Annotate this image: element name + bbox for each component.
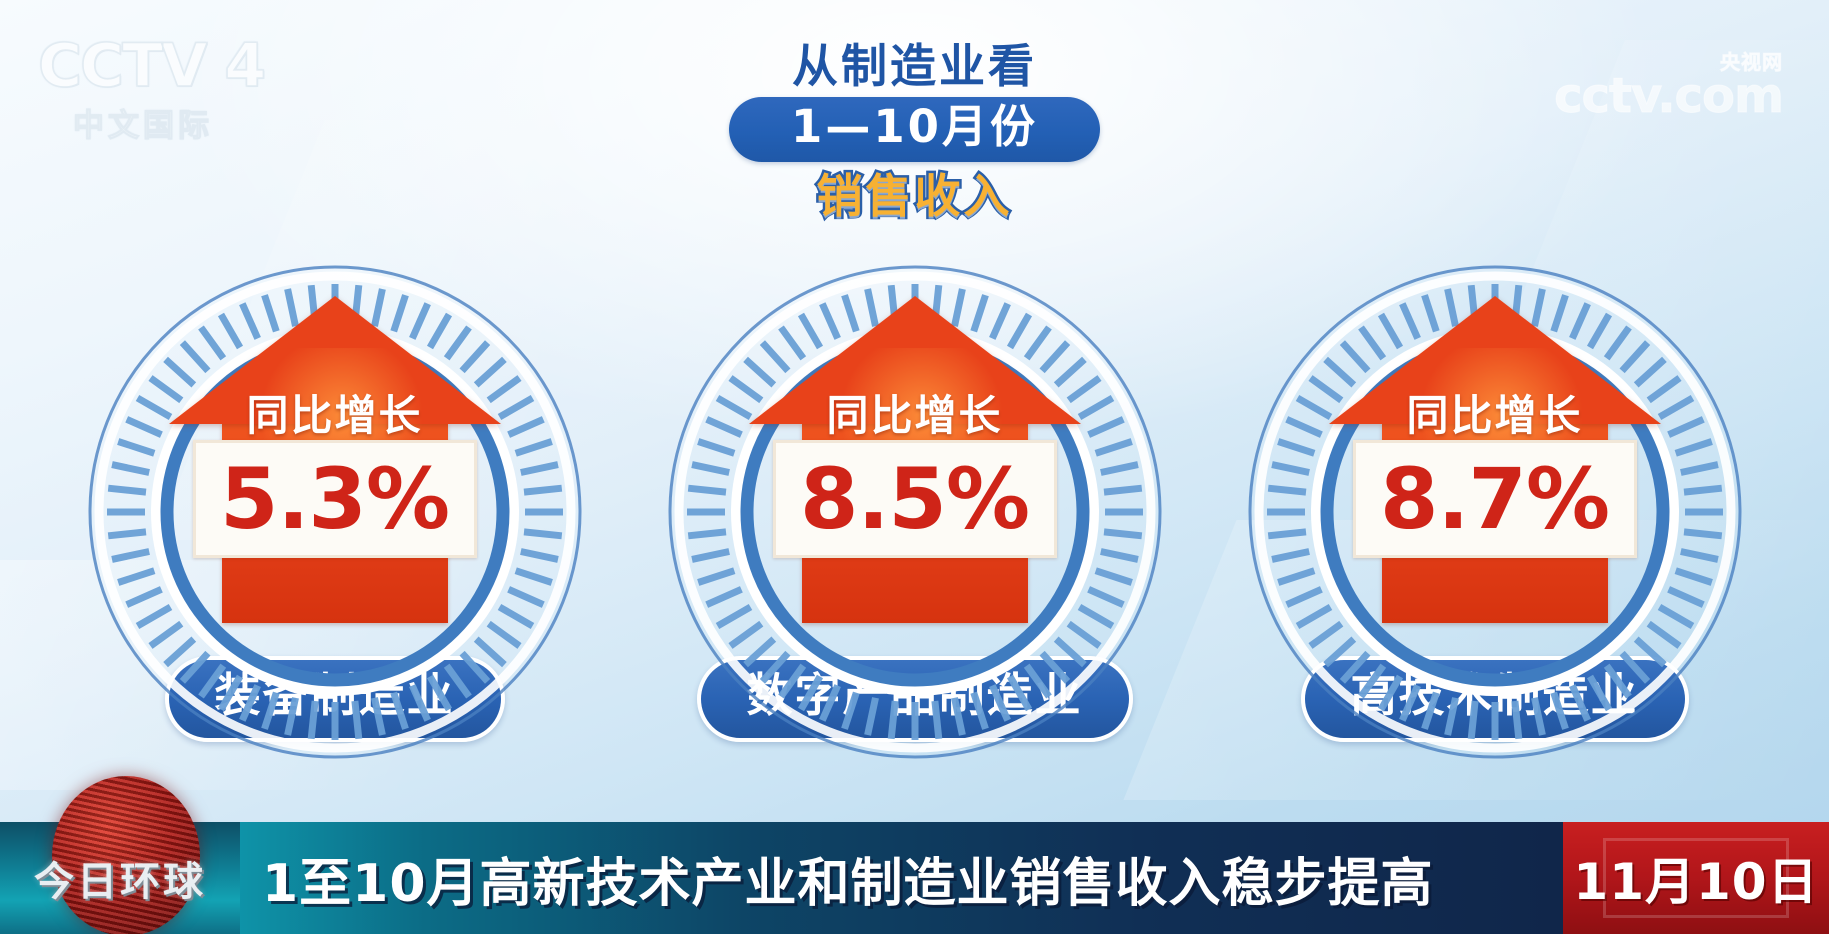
growth-arrow: 同比增长 5.3% — [169, 296, 501, 626]
date-badge: 11月10日 — [1563, 822, 1829, 934]
value-panel: 8.5% — [773, 440, 1057, 558]
growth-value: 8.7% — [1380, 457, 1609, 541]
headline-bar: 1至10月高新技术产业和制造业销售收入稳步提高 — [240, 822, 1563, 934]
growth-value: 5.3% — [220, 457, 449, 541]
header-block: 从制造业看 1—10月份 销售收入 — [0, 42, 1829, 221]
growth-label: 同比增长 — [169, 382, 501, 443]
broadcast-graphic: CCTV 4 中文国际 央视网 cctv.com 从制造业看 1—10月份 销售… — [0, 0, 1829, 934]
value-panel: 5.3% — [193, 440, 477, 558]
growth-arrow: 同比增长 8.7% — [1329, 296, 1661, 626]
headline-text: 1至10月高新技术产业和制造业销售收入稳步提高 — [262, 841, 1434, 916]
growth-arrow: 同比增长 8.5% — [749, 296, 1081, 626]
metric-label: 销售收入 — [817, 172, 1013, 221]
growth-label: 同比增长 — [749, 382, 1081, 443]
gauge-card: 同比增长 8.5% 数字产品制造业 — [650, 262, 1180, 742]
date-text: 11月10日 — [1573, 842, 1818, 914]
program-name: 今日环球 — [34, 849, 206, 907]
circular-dial: 同比增长 8.7% — [1245, 262, 1745, 662]
gauge-row: 同比增长 5.3% 装备制造业 — [0, 262, 1829, 742]
gauge-card: 同比增长 5.3% 装备制造业 — [70, 262, 600, 742]
growth-value: 8.5% — [800, 457, 1029, 541]
growth-label: 同比增长 — [1329, 382, 1661, 443]
period-pill: 1—10月份 — [729, 97, 1100, 162]
news-ticker: 今日环球 1至10月高新技术产业和制造业销售收入稳步提高 11月10日 — [0, 822, 1829, 934]
value-panel: 8.7% — [1353, 440, 1637, 558]
circular-dial: 同比增长 5.3% — [85, 262, 585, 662]
kicker-text: 从制造业看 — [792, 42, 1037, 91]
gauge-card: 同比增长 8.7% 高技术制造业 — [1230, 262, 1760, 742]
circular-dial: 同比增长 8.5% — [665, 262, 1165, 662]
program-logo: 今日环球 — [0, 822, 240, 934]
